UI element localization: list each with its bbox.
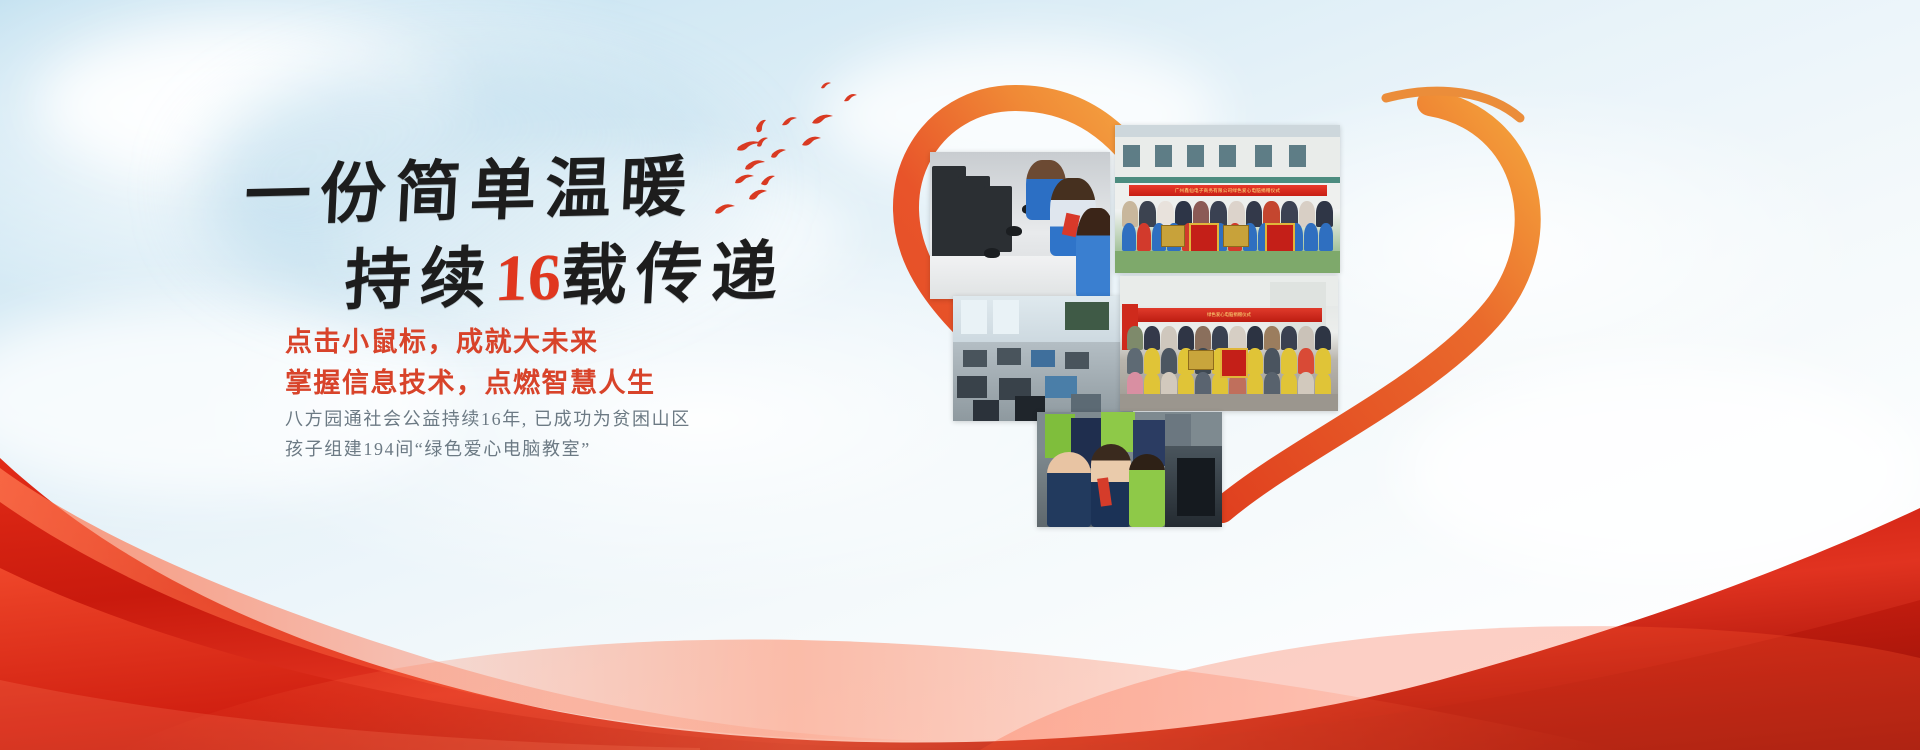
photo-classroom-computer-lab	[953, 296, 1133, 421]
description-line-1: 八方园通社会公益持续16年, 已成功为贫困山区	[285, 405, 691, 435]
subtitle-line-1: 点击小鼠标，成就大未来	[285, 322, 656, 363]
subtitle-block: 点击小鼠标，成就大未来 掌握信息技术，点燃智慧人生	[285, 322, 656, 404]
ceremony-banner-2-label: 绿色爱心电脑捐赠仪式	[1138, 310, 1320, 320]
photo-school-group-yellow: 绿色爱心电脑捐赠仪式	[1120, 276, 1338, 411]
headline-years-number: 16	[493, 241, 563, 315]
headline-line-1: 一份简单温暖	[243, 145, 768, 240]
headline-block: 一份简单温暖 持续16载传递	[245, 150, 765, 321]
red-silk-wave	[0, 450, 1920, 750]
ceremony-banner-text: 广州鑫仙电子商务有限公司绿色爱心电脑捐赠仪式	[1129, 185, 1327, 196]
ceremony-banner-label: 广州鑫仙电子商务有限公司绿色爱心电脑捐赠仪式	[1129, 185, 1327, 196]
charity-banner: 一份简单温暖 持续16载传递 点击小鼠标，成就大未来 掌握信息技术，点燃智慧人生…	[0, 0, 1920, 750]
photo-donation-ceremony-group: 广州鑫仙电子商务有限公司绿色爱心电脑捐赠仪式	[1115, 125, 1340, 273]
subtitle-line-2: 掌握信息技术，点燃智慧人生	[285, 363, 656, 404]
headline-line-2-prefix: 持续	[343, 243, 497, 319]
photo-kids-at-computers	[930, 152, 1110, 299]
